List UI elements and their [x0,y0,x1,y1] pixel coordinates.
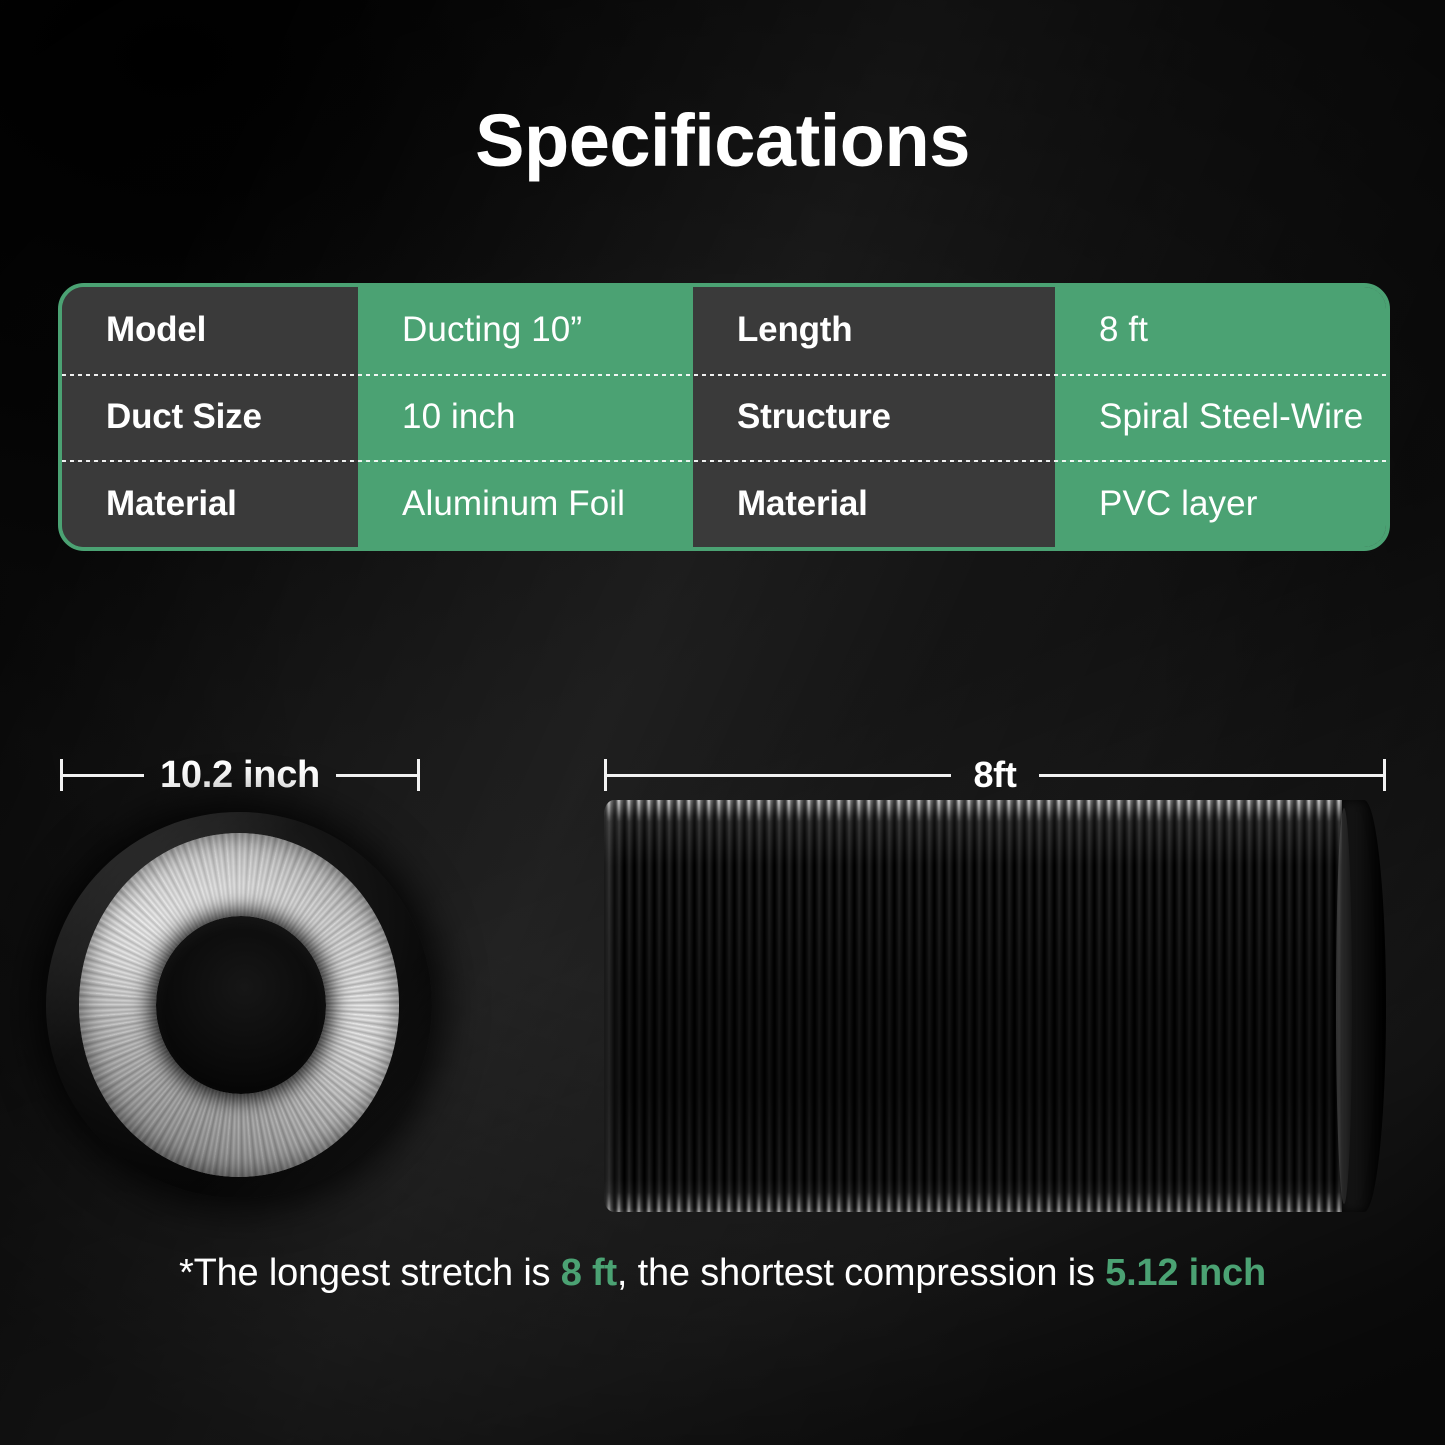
specifications-table: Model Ducting 10” Length 8 ft Duct Size … [58,283,1390,551]
dimension-line-right [1039,774,1383,777]
dimension-line-right [336,774,417,777]
duct-cross-section-image [46,812,432,1198]
spec-value-duct-size: 10 inch [358,374,693,461]
footnote-highlight-stretch: 8 ft [561,1252,617,1294]
spec-value-material-right: PVC layer [1055,460,1386,547]
spec-value-model: Ducting 10” [358,287,693,374]
dimension-line-left [607,774,951,777]
length-label: 8ft [951,754,1038,796]
duct-bore-opening [156,916,326,1094]
length-dimension-callout: 8ft [604,752,1386,798]
footnote: *The longest stretch is 8 ft, the shorte… [0,1252,1445,1295]
spec-label-length: Length [693,287,1055,374]
tube-end-cap-highlight [1336,808,1352,1204]
tube-shading [604,800,1364,1212]
page-title: Specifications [0,102,1445,180]
diameter-dimension-callout: 10.2 inch [60,752,420,798]
spec-label-model: Model [62,287,358,374]
footnote-middle: , the shortest compression is [617,1252,1105,1294]
tube-bottom-highlight [604,1192,1364,1212]
spec-label-duct-size: Duct Size [62,374,358,461]
spec-value-length: 8 ft [1055,287,1386,374]
duct-tube-image [604,800,1386,1212]
dimension-line-left [63,774,144,777]
footnote-prefix: *The longest stretch is [179,1252,561,1294]
duct-tube-body [604,800,1364,1212]
table-row: Material Aluminum Foil Material PVC laye… [62,460,1386,547]
table-row: Duct Size 10 inch Structure Spiral Steel… [62,374,1386,461]
tube-left-highlight [604,800,622,1212]
spec-label-material-left: Material [62,460,358,547]
spec-label-structure: Structure [693,374,1055,461]
spec-value-material-left: Aluminum Foil [358,460,693,547]
background-vignette [0,0,1445,1445]
dimension-cap-right-icon [417,759,420,791]
diameter-label: 10.2 inch [144,754,336,797]
tube-top-highlight [604,800,1364,822]
spec-value-structure: Spiral Steel-Wire [1055,374,1386,461]
footnote-highlight-compression: 5.12 inch [1105,1252,1266,1294]
table-row: Model Ducting 10” Length 8 ft [62,287,1386,374]
spec-label-material-right: Material [693,460,1055,547]
specifications-page: Specifications Model Ducting 10” Length … [0,0,1445,1445]
dimension-cap-right-icon [1383,759,1386,791]
